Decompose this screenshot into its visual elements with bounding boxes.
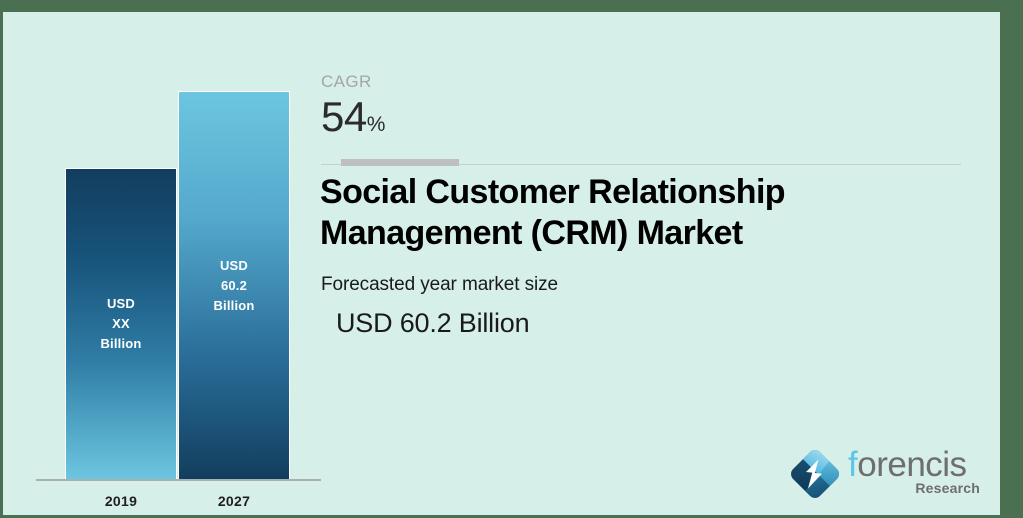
bar-chart: USD XX Billion USD 60.2 Billion 2019 202… bbox=[3, 12, 333, 515]
forencis-wordmark: forencis Research bbox=[848, 448, 982, 496]
chart-baseline-axis bbox=[36, 479, 321, 481]
forencis-word-f: f bbox=[848, 445, 857, 484]
forencis-research-logo: forencis Research bbox=[786, 442, 982, 508]
bar-2019-value: XX bbox=[66, 314, 176, 334]
axis-tick-2019: 2019 bbox=[65, 493, 177, 509]
cagr-label: CAGR bbox=[321, 72, 372, 92]
frame-band-top bbox=[0, 0, 1023, 12]
bar-2027-value: 60.2 bbox=[179, 275, 289, 295]
axis-tick-2027: 2027 bbox=[178, 493, 290, 509]
content-panel: CAGR 54% Social Customer Relationship Ma… bbox=[318, 12, 1000, 515]
forecast-market-value: USD 60.2 Billion bbox=[336, 308, 529, 339]
bar-2019: USD XX Billion bbox=[65, 168, 177, 480]
bar-2019-currency: USD bbox=[66, 294, 176, 314]
page-title-line-2: Management (CRM) Market bbox=[320, 213, 920, 254]
forecast-subtitle: Forecasted year market size bbox=[321, 274, 558, 296]
bar-2027-unit: Billion bbox=[179, 296, 289, 316]
bar-2027-currency: USD bbox=[179, 255, 289, 275]
bar-2027-label: USD 60.2 Billion bbox=[179, 255, 289, 315]
content-background: USD XX Billion USD 60.2 Billion 2019 202… bbox=[3, 12, 1000, 515]
forencis-diamond-icon bbox=[786, 445, 844, 503]
bar-2027: USD 60.2 Billion bbox=[178, 91, 290, 480]
page-title: Social Customer Relationship Management … bbox=[320, 172, 920, 255]
bar-2019-label: USD XX Billion bbox=[66, 294, 176, 354]
frame-band-left bbox=[0, 0, 3, 518]
infographic-canvas: USD XX Billion USD 60.2 Billion 2019 202… bbox=[0, 0, 1023, 518]
divider bbox=[321, 157, 961, 167]
cagr-number: 54 bbox=[321, 93, 367, 140]
divider-accent-bar bbox=[341, 159, 459, 166]
frame-band-right bbox=[1000, 0, 1023, 518]
cagr-percent-sign: % bbox=[367, 113, 386, 136]
forencis-word-rest: orencis bbox=[857, 445, 966, 484]
bar-2019-unit: Billion bbox=[66, 334, 176, 354]
cagr-value: 54% bbox=[321, 96, 385, 138]
page-title-line-1: Social Customer Relationship bbox=[320, 172, 920, 213]
forencis-word: forencis bbox=[848, 448, 982, 481]
